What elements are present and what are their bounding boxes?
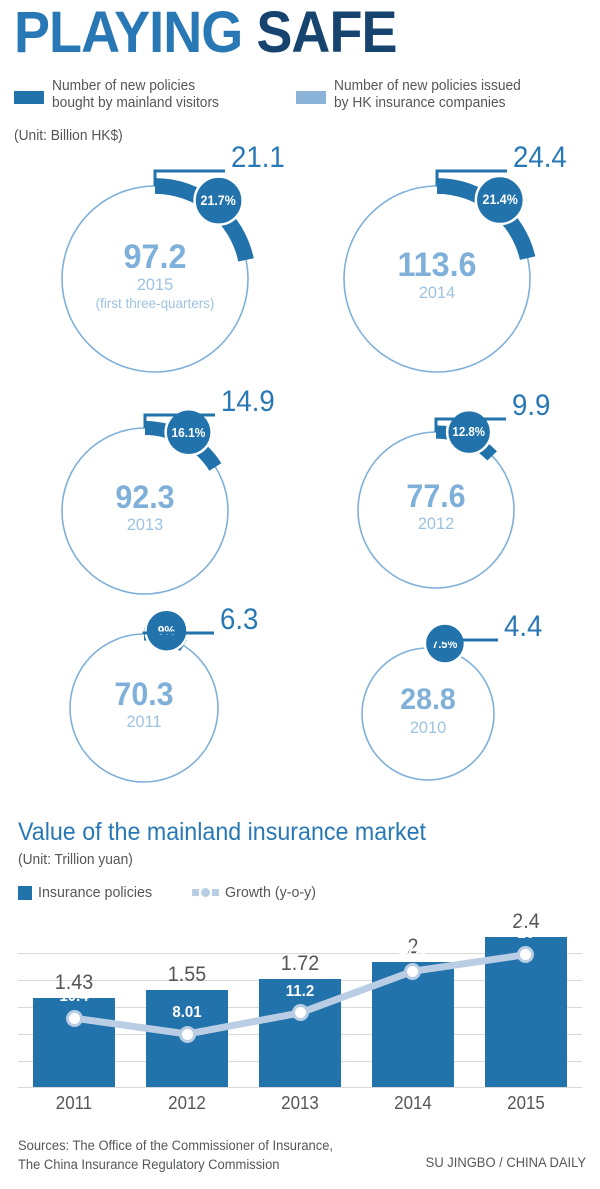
growth-value-2015: 20 [479, 925, 573, 943]
legend-label-mainland: Number of new policiesbought by mainland… [52, 78, 219, 112]
donut-leader-2011 [142, 631, 232, 638]
title-word-1: PLAYING [14, 0, 242, 65]
bar-chart: 1.4320111.5520121.722013220142.42015 10.… [18, 915, 582, 1115]
growth-value-2014: 17.5 [366, 941, 460, 959]
section2-unit: (Unit: Trillion yuan) [18, 852, 133, 868]
title-word-2: SAFE [256, 0, 396, 65]
growth-point-2011 [66, 1010, 83, 1027]
growth-point-2014 [404, 963, 421, 980]
bar-legend-swatch-policies [18, 886, 32, 900]
credit-text: SU JINGBO / CHINA DAILY [426, 1155, 586, 1170]
sources-line-2: The China Insurance Regulatory Commissio… [18, 1157, 279, 1172]
donut-segment-2014: 24.4 [513, 143, 567, 173]
growth-value-2013: 11.2 [253, 983, 347, 1001]
legend-item-hk: Number of new policies issuedby HK insur… [296, 78, 531, 112]
donut-segment-2015: 21.1 [231, 143, 285, 173]
infographic-page: PLAYING SAFE Number of new policiesbough… [0, 0, 600, 1189]
bar-legend-label-policies: Insurance policies [38, 884, 152, 901]
donut-segment-2013: 14.9 [221, 387, 275, 417]
legend-swatch-mainland [14, 91, 44, 104]
bar-legend-item-policies: Insurance policies [18, 884, 158, 901]
sources-line-1: Sources: The Office of the Commissioner … [18, 1138, 333, 1153]
donut-leader-2012 [434, 417, 524, 436]
unit-label-billion-hkd: (Unit: Billion HK$) [14, 128, 123, 144]
bar-legend-item-growth: Growth (y-o-y) [192, 884, 321, 901]
section2-title: Value of the mainland insurance market [18, 818, 426, 847]
line-dot-marker-icon [192, 888, 219, 897]
donut-leader-2013 [143, 413, 233, 432]
donut-leader-2014 [435, 169, 525, 190]
donut-segment-2010: 4.4 [504, 612, 542, 642]
legend-label-hk: Number of new policies issuedby HK insur… [334, 78, 521, 112]
growth-value-2011: 10.4 [27, 988, 121, 1006]
bar-legend-label-growth: Growth (y-o-y) [225, 884, 316, 901]
legend-swatch-hk [296, 91, 326, 104]
donut-leader-2010 [426, 638, 516, 652]
donut-segment-2011: 6.3 [220, 605, 258, 635]
sources-text: Sources: The Office of the Commissioner … [18, 1136, 333, 1174]
growth-point-2013 [292, 1004, 309, 1021]
legend-item-mainland: Number of new policiesbought by mainland… [14, 78, 228, 112]
growth-value-2012: 8.01 [140, 1004, 234, 1022]
growth-point-2012 [179, 1026, 196, 1043]
donut-segment-2012: 9.9 [512, 391, 550, 421]
page-title: PLAYING SAFE [14, 2, 397, 64]
donut-leader-2015 [153, 169, 243, 190]
